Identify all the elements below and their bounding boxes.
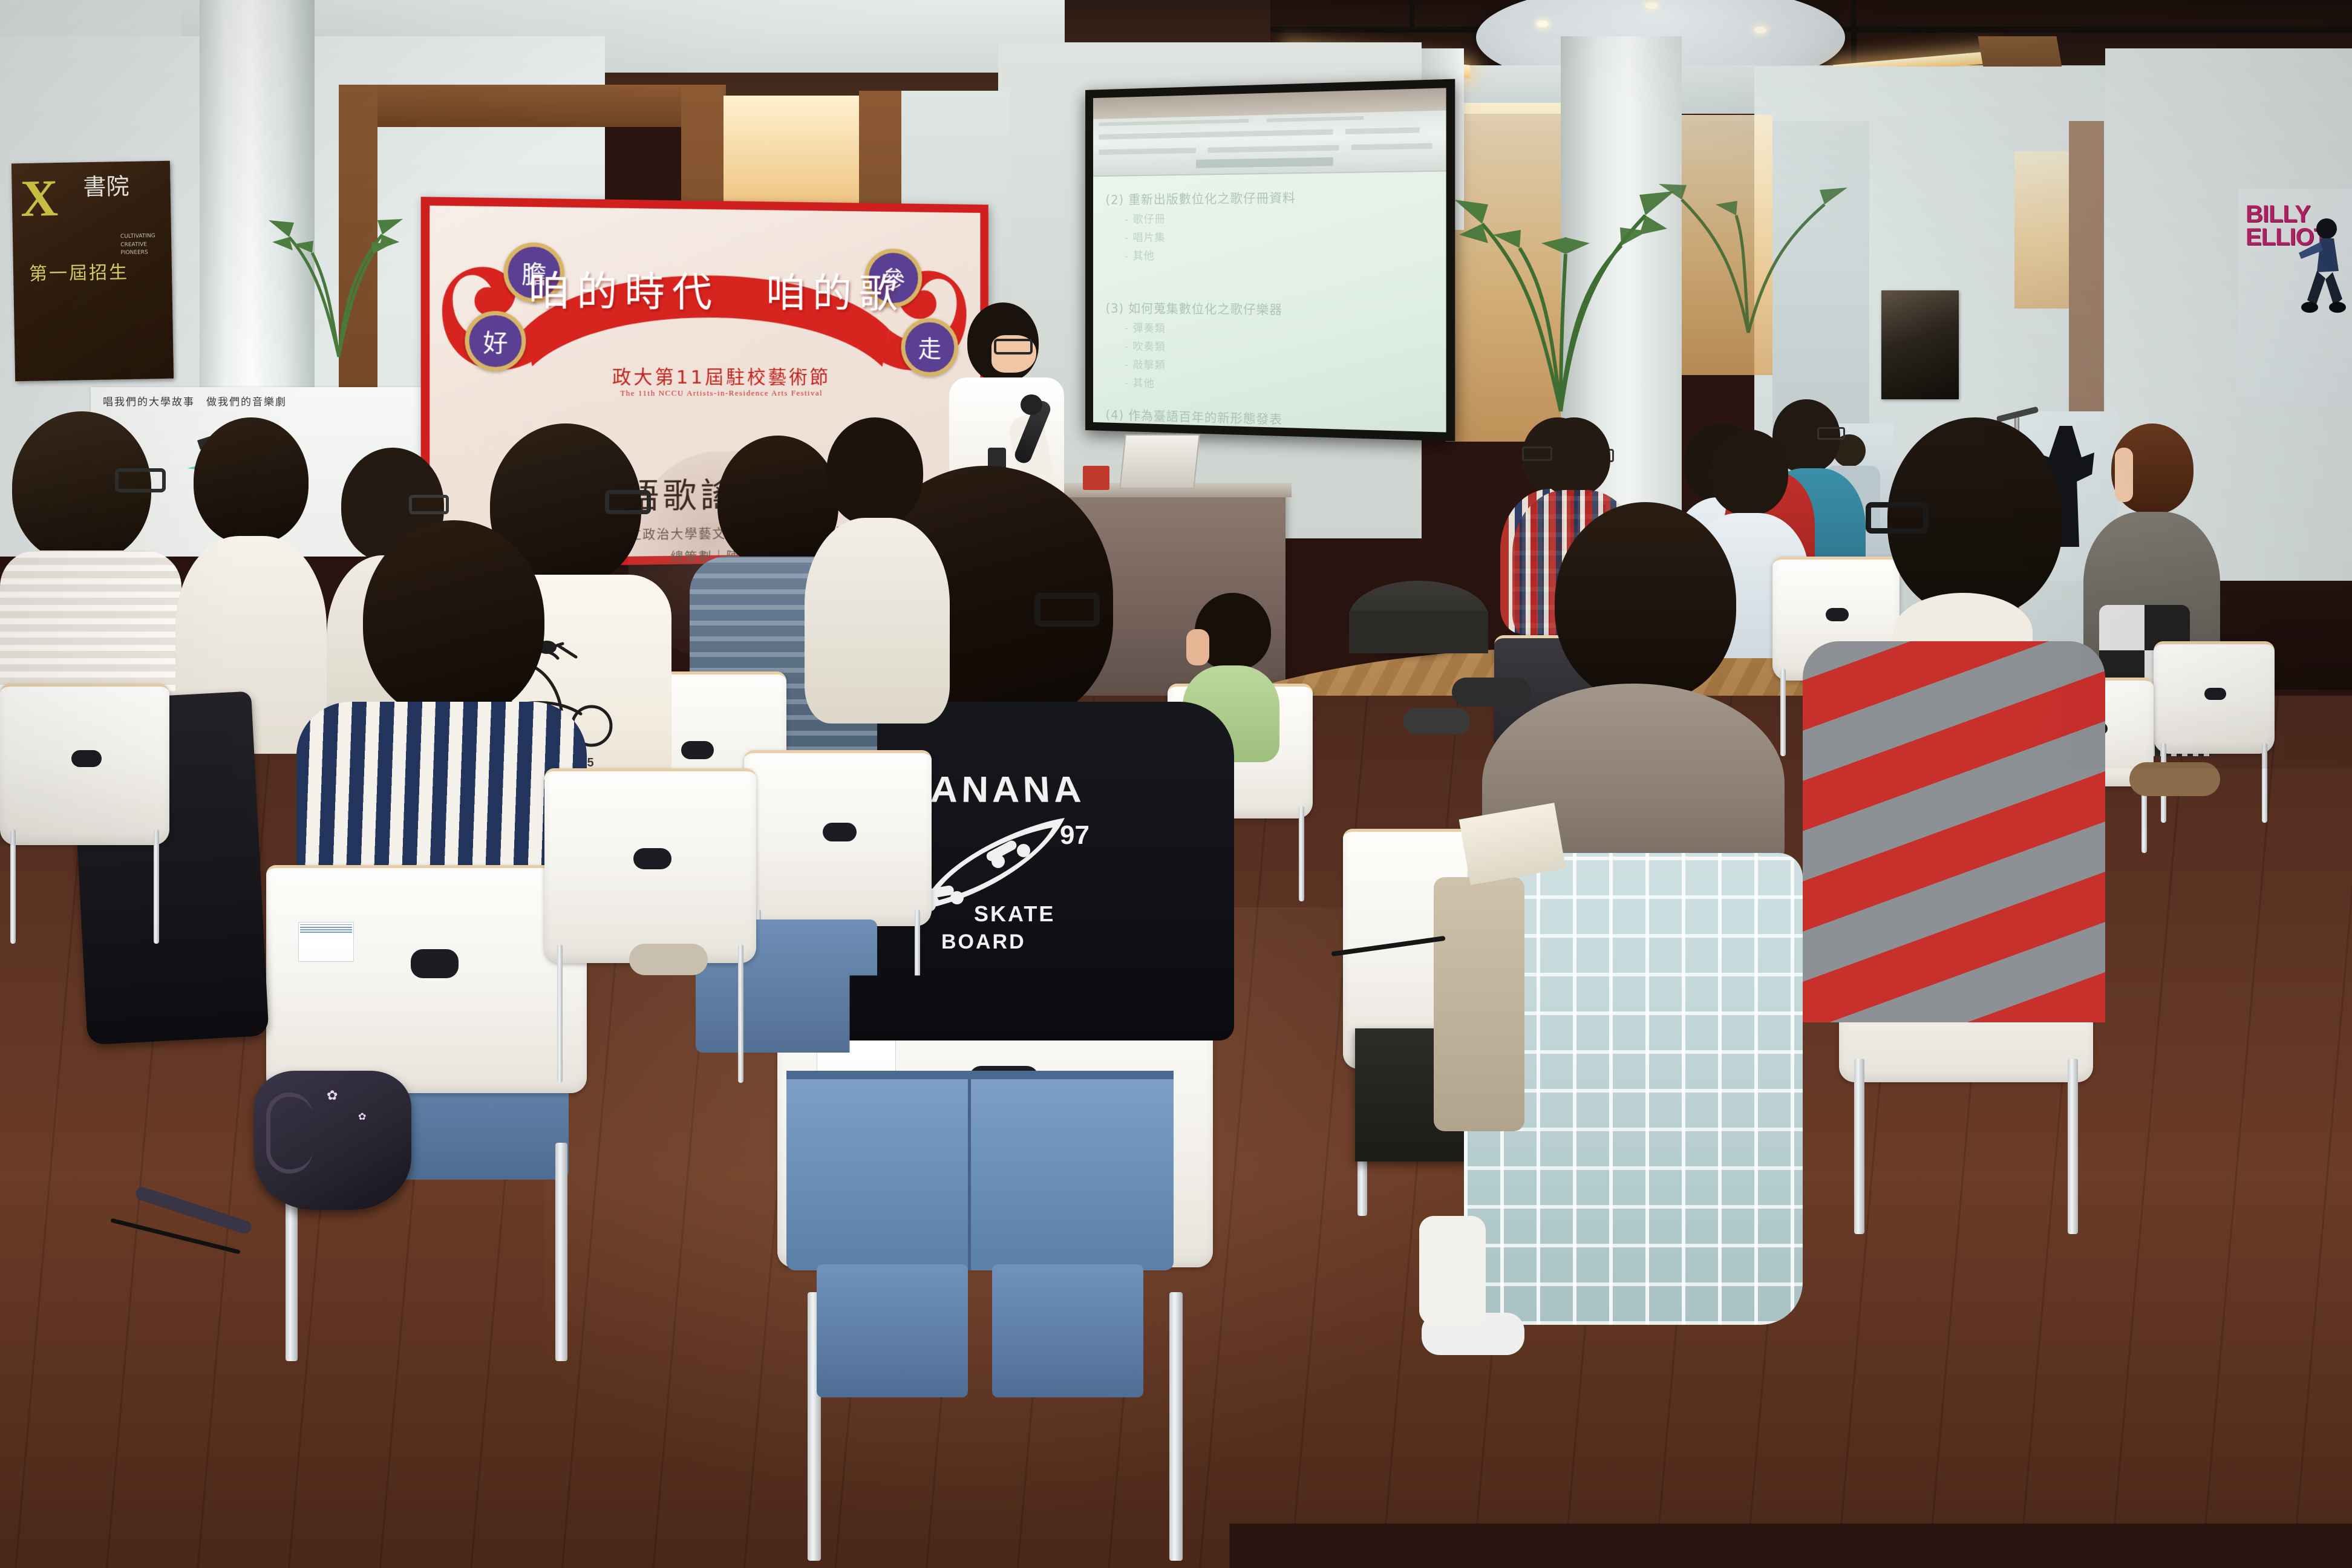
chair-leg bbox=[154, 829, 159, 944]
slide-line: - 唱片集 bbox=[1125, 228, 1432, 245]
poster-x-title: 書院 bbox=[83, 174, 129, 200]
jeans-waistband bbox=[786, 1071, 1174, 1079]
projection-screen-surface: (2) 重新出版數位化之歌仔冊資料 - 歌仔冊 - 唱片集 - 其他 (3) 如… bbox=[1093, 88, 1446, 432]
poster-x-small-text: CULTIVATING CREATIVE PIONEERS bbox=[120, 232, 155, 258]
rugby-shirt bbox=[1803, 641, 2105, 1022]
person-head bbox=[826, 417, 923, 526]
chair[interactable] bbox=[0, 684, 169, 944]
jeans-leg bbox=[992, 1264, 1143, 1397]
glasses-icon bbox=[605, 490, 651, 514]
chair-handle bbox=[823, 823, 857, 842]
chair-back bbox=[744, 750, 932, 926]
slide-line: (2) 重新出版數位化之歌仔冊資料 bbox=[1106, 187, 1432, 209]
audience-person bbox=[805, 417, 956, 732]
glasses-icon bbox=[409, 495, 449, 514]
shoe bbox=[2129, 762, 2220, 796]
person-head bbox=[1555, 502, 1736, 702]
glasses-icon bbox=[115, 468, 166, 492]
ceiling-spot-light bbox=[1537, 21, 1549, 27]
glasses-icon bbox=[994, 339, 1033, 354]
chair-back bbox=[2154, 641, 2275, 754]
shoe bbox=[544, 1107, 629, 1141]
person-face bbox=[2115, 448, 2133, 502]
jeans bbox=[786, 1071, 1174, 1270]
person-head bbox=[194, 417, 309, 544]
jeans-leg bbox=[817, 1264, 968, 1397]
ceiling-spot-light bbox=[1754, 27, 1766, 33]
projection-screen: (2) 重新出版數位化之歌仔冊資料 - 歌仔冊 - 唱片集 - 其他 (3) 如… bbox=[1085, 79, 1455, 442]
potted-palm-left bbox=[254, 157, 423, 363]
doorway-glow bbox=[2014, 151, 2069, 309]
banana-tee-line1: SKATE bbox=[974, 901, 1055, 927]
chair-handle bbox=[633, 848, 671, 869]
poster-x-mark: X bbox=[20, 176, 58, 221]
backpack-flower-icon: ✿ bbox=[327, 1088, 338, 1103]
chair-leg bbox=[10, 829, 16, 944]
shoe bbox=[1452, 678, 1530, 707]
wood-beam bbox=[339, 85, 726, 127]
slide-line: - 彈奏類 bbox=[1125, 320, 1432, 339]
chair-leg bbox=[2068, 1059, 2078, 1234]
audience-person-plaid-skirt bbox=[1446, 502, 1809, 1391]
banana-tee-line2: BOARD bbox=[941, 930, 1026, 954]
audience-person-rugby bbox=[1803, 417, 2117, 1022]
microphone-head-icon bbox=[1021, 394, 1042, 415]
slide-line: - 敲擊類 bbox=[1125, 356, 1432, 377]
chair-leg bbox=[2262, 743, 2267, 823]
ceiling-spot-light bbox=[1645, 2, 1658, 9]
chair-back bbox=[266, 865, 587, 1093]
jeans-seam bbox=[968, 1079, 971, 1270]
slide-content: (2) 重新出版數位化之歌仔冊資料 - 歌仔冊 - 唱片集 - 其他 (3) 如… bbox=[1093, 181, 1446, 433]
poster-photo-dark bbox=[1881, 290, 1959, 399]
chair-handle bbox=[71, 750, 102, 768]
chair-back bbox=[0, 684, 169, 845]
backpack-strap bbox=[266, 1093, 313, 1174]
chair-handle bbox=[2204, 688, 2226, 700]
chair-handle bbox=[681, 741, 714, 759]
chair-leg bbox=[555, 1143, 567, 1361]
shoulder-bag bbox=[1434, 877, 1524, 1131]
chair-handle bbox=[411, 949, 459, 978]
leg bbox=[1419, 1216, 1486, 1325]
shoe bbox=[1403, 708, 1470, 734]
chair[interactable] bbox=[544, 768, 756, 1083]
slide-line: - 歌仔冊 bbox=[1125, 209, 1432, 227]
glasses-icon bbox=[1866, 502, 1929, 534]
photo-scene: X 書院 CULTIVATING CREATIVE PIONEERS 第一屆招生… bbox=[0, 0, 2352, 1568]
potted-palm-right bbox=[1645, 157, 1851, 339]
poster-x-academy: X 書院 CULTIVATING CREATIVE PIONEERS 第一屆招生 bbox=[11, 161, 174, 382]
slide-line: - 其他 bbox=[1125, 247, 1432, 263]
glasses-icon bbox=[1522, 446, 1552, 461]
ceiling-beam bbox=[1410, 0, 1414, 30]
backpack: ✿ ✿ bbox=[254, 1071, 411, 1210]
shoe bbox=[629, 944, 708, 975]
chair-leg bbox=[557, 944, 563, 1083]
poster-musical-headline: 唱我們的大學故事 做我們的音樂劇 bbox=[103, 393, 287, 408]
chair-leg bbox=[1854, 1059, 1864, 1234]
dancer-silhouette-icon bbox=[2296, 215, 2352, 324]
chair-back bbox=[544, 768, 756, 963]
banner-subtitle-en: The 11th NCCU Artists-in-Residence Arts … bbox=[523, 388, 915, 399]
slide-line: (4) 作為臺語百年的新形態發表 bbox=[1106, 405, 1432, 432]
banner-title: 咱的時代 咱的歌 bbox=[505, 258, 927, 345]
backpack-flower-icon: ✿ bbox=[358, 1111, 366, 1123]
chair-leg bbox=[738, 944, 743, 1083]
slide-line: (3) 如何蒐集數位化之歌仔樂器 bbox=[1106, 299, 1432, 320]
chair-leg bbox=[1299, 806, 1304, 901]
person-top bbox=[805, 518, 950, 724]
chair-leg bbox=[915, 909, 920, 1034]
shoe bbox=[460, 1065, 550, 1101]
slide-line: - 吹奏類 bbox=[1125, 338, 1432, 359]
poster-billy-elliot: BILLY ELLIOT bbox=[2238, 189, 2352, 400]
banner-subtitle-cn: 政大第11屆駐校藝術節 bbox=[523, 362, 915, 390]
glasses-icon bbox=[1034, 593, 1100, 627]
chair-label bbox=[298, 922, 354, 961]
person-head bbox=[363, 520, 544, 720]
poster-x-subtitle: 第一屆招生 bbox=[29, 257, 129, 286]
presentation-toolbar bbox=[1093, 111, 1446, 177]
